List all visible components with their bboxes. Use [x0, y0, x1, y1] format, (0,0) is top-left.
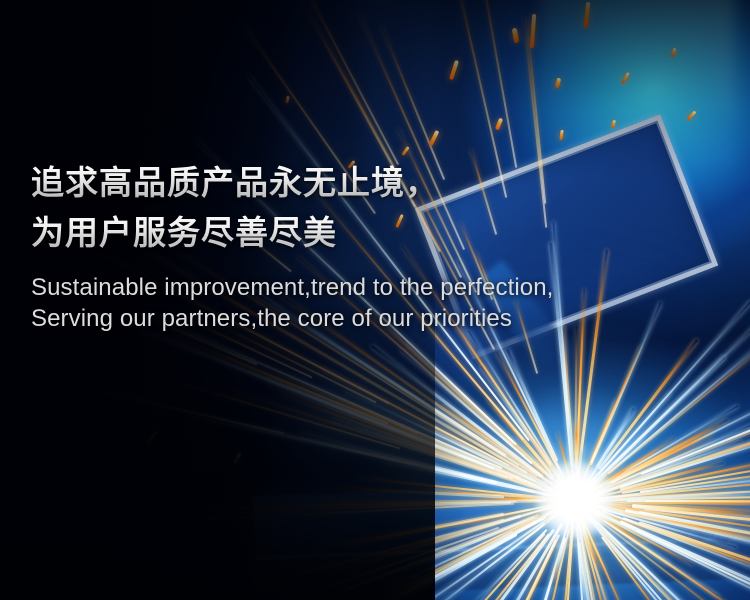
headline-cn-line-2: 为用户服务尽善尽美 [31, 208, 721, 258]
subhead-en-line-1: Sustainable improvement,trend to the per… [31, 272, 721, 303]
headline-cn-line-1: 追求高品质产品永无止境， [31, 158, 721, 208]
subhead-block: Sustainable improvement,trend to the per… [31, 272, 721, 334]
subhead-en-line-2: Serving our partners,the core of our pri… [31, 303, 721, 334]
arc-flash-core [536, 461, 614, 539]
banner-copy: 追求高品质产品永无止境， 为用户服务尽善尽美 Sustainable impro… [31, 158, 721, 334]
hero-banner: 追求高品质产品永无止境， 为用户服务尽善尽美 Sustainable impro… [0, 0, 750, 600]
